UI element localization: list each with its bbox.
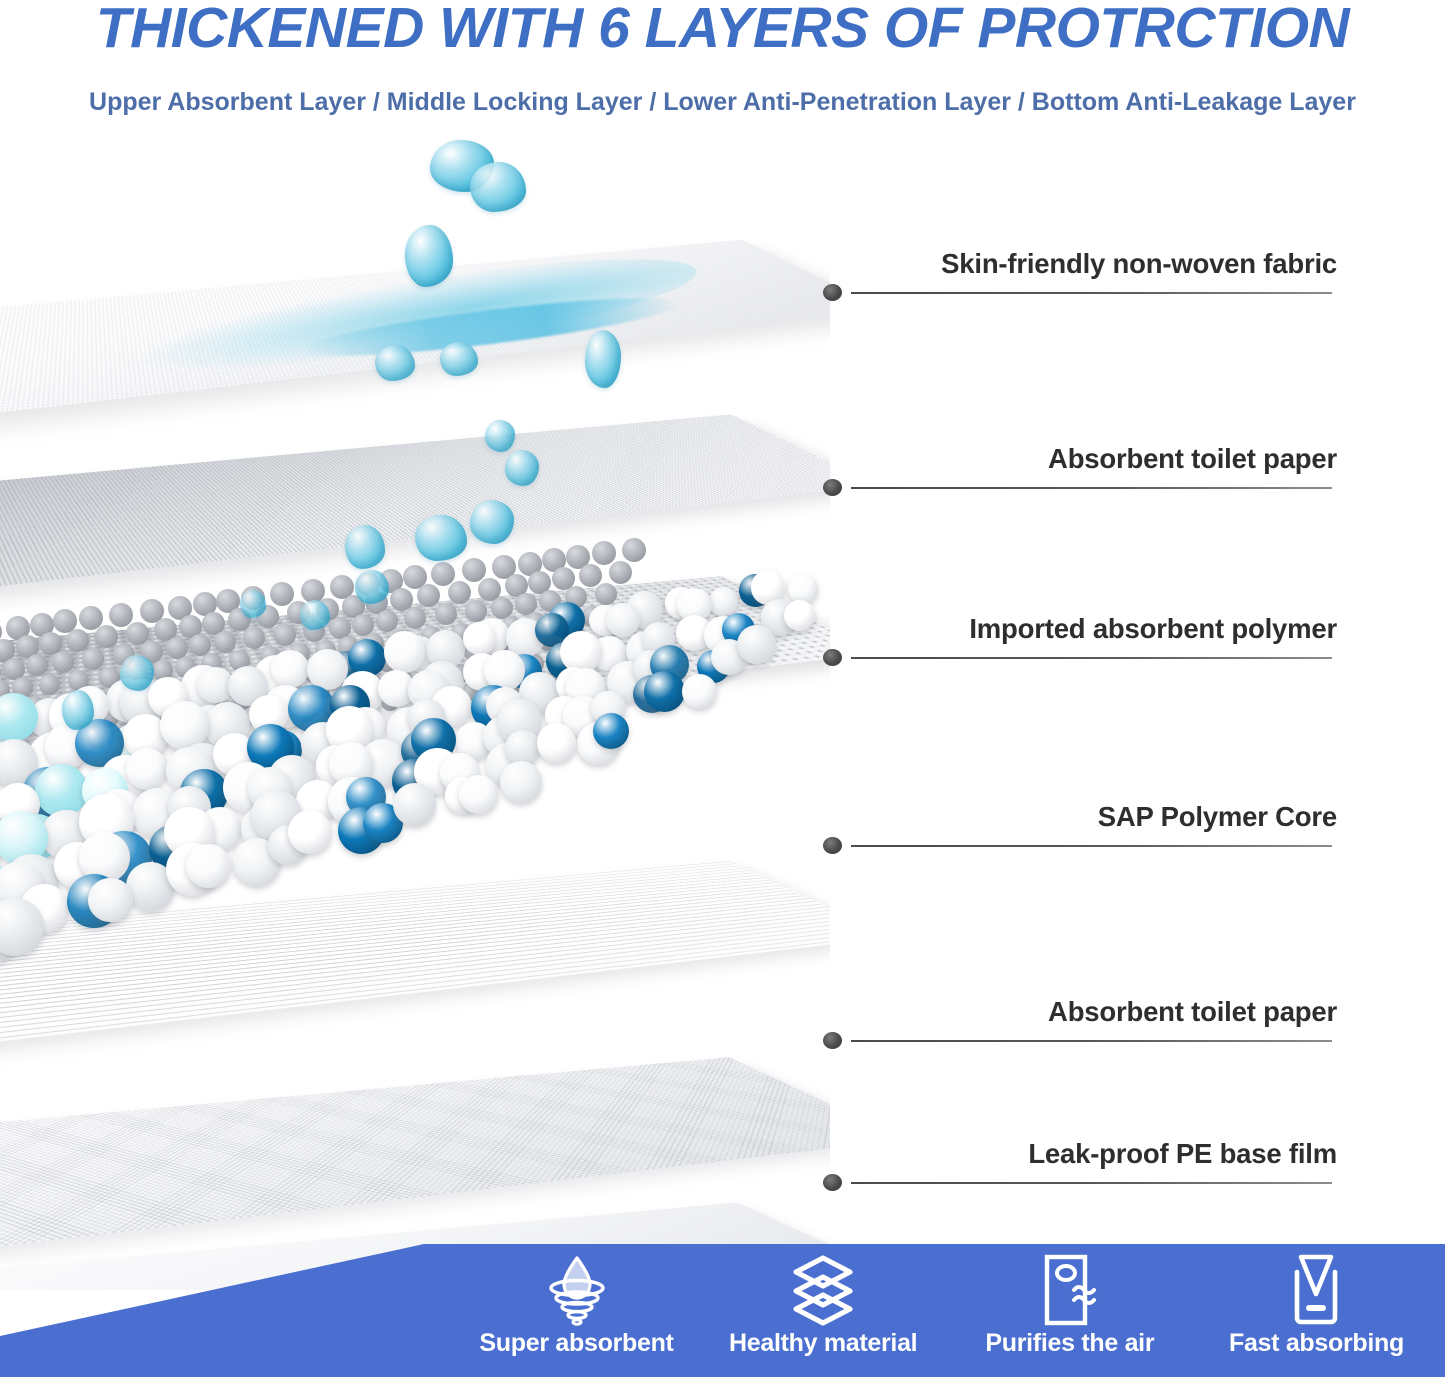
infographic-page: THICKENED WITH 6 LAYERS OF PROTRCTION Up… (0, 0, 1445, 1377)
polymer-bead (88, 878, 133, 923)
water-droplet (505, 450, 539, 486)
feature-bar: Super absorbent Healthy material (0, 1244, 1445, 1377)
callout-absorbent-toilet-paper-top: Absorbent toilet paper (823, 447, 1392, 489)
water-droplet (415, 515, 467, 561)
mat-bead (431, 562, 455, 586)
feature-label: Healthy material (729, 1328, 917, 1358)
mat-bead (52, 651, 74, 673)
polymer-bead (593, 713, 629, 749)
feature-fast-absorbing: Fast absorbing (1200, 1252, 1433, 1358)
callout-leader-line (851, 657, 1332, 659)
mat-bead (66, 629, 89, 652)
callout-leader-line (851, 1182, 1332, 1184)
callout-dot-icon (823, 284, 842, 301)
feature-list: Super absorbent Healthy material (440, 1244, 1445, 1377)
polymer-bead (788, 574, 818, 604)
polymer-bead (737, 625, 776, 664)
water-droplet (240, 590, 266, 618)
feature-label: Fast absorbing (1229, 1328, 1404, 1358)
polymer-bead (784, 600, 815, 631)
polymer-bead (463, 622, 496, 655)
callout-leader-line (851, 1040, 1332, 1042)
callout-absorbent-toilet-paper-bottom: Absorbent toilet paper (823, 1000, 1392, 1042)
water-droplet (120, 655, 154, 691)
callout-dot-icon (823, 479, 842, 496)
mat-bead (462, 558, 486, 582)
feature-label: Purifies the air (985, 1328, 1154, 1358)
polymer-bead (606, 603, 640, 637)
callout-skin-friendly-non-woven-fabric: Skin-friendly non-woven fabric (823, 252, 1392, 294)
mat-bead (579, 564, 602, 587)
callout-label: Absorbent toilet paper (1048, 443, 1337, 475)
callout-dot-icon (823, 1032, 842, 1049)
mat-bead (465, 600, 487, 622)
page-subtitle: Upper Absorbent Layer / Middle Locking L… (0, 86, 1445, 118)
water-drop-ripple-icon (544, 1252, 610, 1328)
callout-sap-polymer-core: SAP Polymer Core (823, 805, 1392, 847)
polymer-bead (271, 650, 309, 688)
water-droplet (440, 342, 478, 376)
callout-label: Leak-proof PE base film (1028, 1138, 1337, 1170)
water-droplet (485, 420, 515, 452)
mat-bead (404, 607, 426, 629)
mat-bead (109, 603, 133, 627)
polymer-bead (35, 764, 88, 817)
callout-label: Skin-friendly non-woven fabric (941, 248, 1337, 280)
water-droplet (470, 162, 526, 212)
polymer-bead (186, 844, 231, 889)
polymer-bead (288, 810, 332, 854)
polymer-bead (537, 723, 577, 763)
mat-bead (243, 627, 265, 649)
page-title: THICKENED WITH 6 LAYERS OF PROTRCTION (0, 0, 1445, 60)
callout-leader-line (851, 292, 1332, 294)
water-droplet (585, 330, 621, 388)
mat-bead (435, 603, 457, 625)
callout-label: Imported absorbent polymer (969, 613, 1337, 645)
feature-label: Super absorbent (479, 1328, 673, 1358)
mat-bead (82, 648, 104, 670)
mat-bead (274, 624, 296, 646)
callout-leader-line (851, 845, 1332, 847)
mat-bead (126, 622, 149, 645)
polymer-bead (682, 674, 717, 709)
polymer-bead (393, 783, 436, 826)
callout-dot-icon (823, 837, 842, 854)
feature-healthy-material: Healthy material (707, 1252, 940, 1358)
feature-purifies-the-air: Purifies the air (953, 1252, 1186, 1358)
mat-bead (609, 561, 632, 584)
water-droplet (375, 345, 415, 381)
water-droplet (405, 225, 453, 287)
mat-bead (270, 582, 294, 606)
feature-super-absorbent: Super absorbent (460, 1252, 693, 1358)
download-tray-icon (1285, 1252, 1347, 1328)
polymer-bead (459, 775, 498, 814)
polymer-bead (384, 631, 426, 673)
water-droplet (355, 570, 389, 604)
callout-leak-proof-pe-base-film: Leak-proof PE base film (823, 1142, 1392, 1184)
mat-bead (214, 631, 236, 653)
callout-imported-absorbent-polymer: Imported absorbent polymer (823, 617, 1392, 659)
callout-label: Absorbent toilet paper (1048, 996, 1337, 1028)
water-droplet (62, 690, 94, 730)
stacked-layers-icon (786, 1252, 860, 1328)
polymer-bead (560, 631, 602, 673)
callout-dot-icon (823, 1174, 842, 1191)
callout-dot-icon (823, 649, 842, 666)
callout-label: SAP Polymer Core (1098, 801, 1337, 833)
air-purifier-icon (1040, 1252, 1100, 1328)
mat-bead (39, 674, 60, 695)
water-droplet (470, 500, 514, 544)
water-droplet (300, 600, 330, 630)
mat-bead (448, 581, 471, 604)
callout-leader-line (851, 487, 1332, 489)
layered-product-illustration (0, 130, 830, 1290)
water-droplet (345, 525, 385, 569)
